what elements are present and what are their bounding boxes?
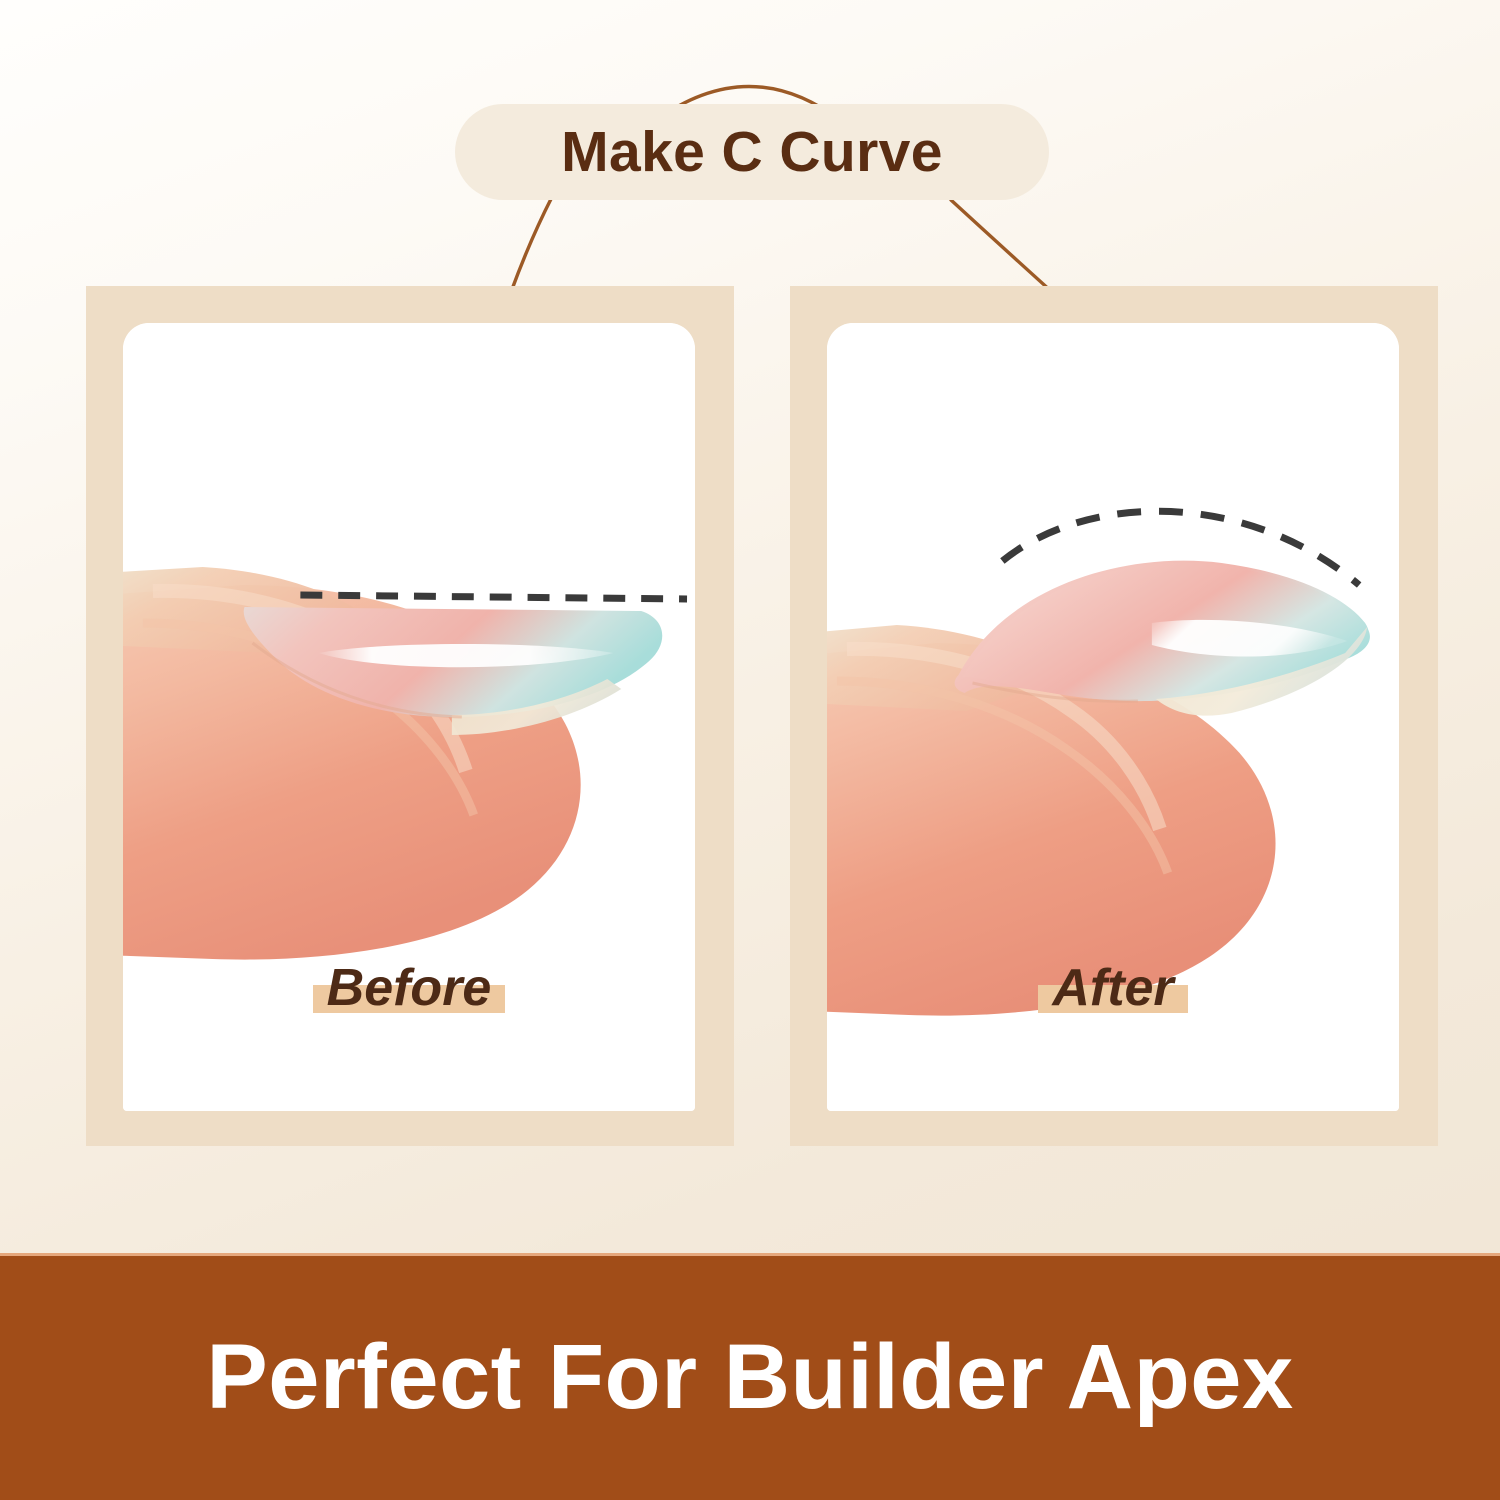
bottom-banner: Perfect For Builder Apex bbox=[0, 1253, 1500, 1500]
right-leader-line-icon bbox=[951, 200, 1052, 292]
title-badge-label: Make C Curve bbox=[561, 124, 943, 181]
poster-root: Make C Curve bbox=[0, 0, 1500, 1500]
comparison-panels: Before bbox=[86, 286, 1438, 1146]
left-leader-line-icon bbox=[511, 197, 552, 292]
after-nail-photo bbox=[827, 323, 1399, 1111]
title-badge: Make C Curve bbox=[455, 104, 1049, 200]
panel-frame-before: Before bbox=[86, 286, 734, 1146]
title-cluster: Make C Curve bbox=[0, 0, 1500, 300]
panel-card-after: After bbox=[827, 323, 1399, 1111]
panel-frame-after: After bbox=[790, 286, 1438, 1146]
banner-divider bbox=[0, 1253, 1500, 1256]
panel-card-before: Before bbox=[123, 323, 695, 1111]
before-nail-photo bbox=[123, 323, 695, 1111]
banner-headline: Perfect For Builder Apex bbox=[206, 1331, 1293, 1423]
